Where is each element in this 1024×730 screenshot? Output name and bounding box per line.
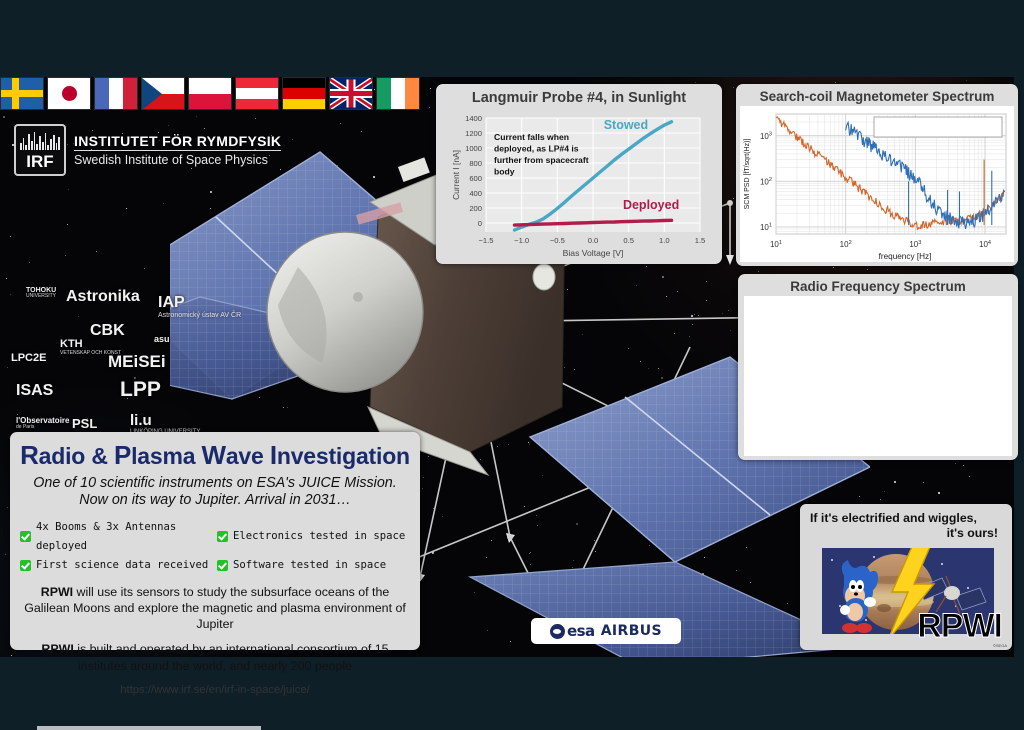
flag-ireland (376, 77, 420, 110)
title-capital: R (20, 440, 39, 470)
svg-text:body: body (494, 167, 515, 177)
logo-psl: PSL (72, 417, 97, 431)
badge-credit: ©SEGA (993, 643, 1007, 648)
svg-text:Stowed: Stowed (604, 118, 648, 132)
title-segment: nvestigation (277, 443, 410, 469)
logo-cbk: CBK (90, 323, 125, 340)
svg-text:Current I [nA]: Current I [nA] (451, 150, 461, 200)
flag-united-kingdom (329, 77, 373, 110)
svg-text:deployed, as LP#4 is: deployed, as LP#4 is (494, 144, 579, 154)
svg-text:103: 103 (760, 132, 772, 141)
check-icon (217, 531, 228, 542)
title-capital: P (114, 440, 131, 470)
langmuir-probe-title: Langmuir Probe #4, in Sunlight (436, 84, 722, 106)
rpwi-info-panel: Radio & Plasma Wave Investigation One of… (10, 432, 420, 650)
badge-slogan-line1: If it's electrified and wiggles, (810, 511, 1004, 525)
check-icon (20, 531, 31, 542)
logo-isas: ISAS (16, 383, 53, 400)
esa-wordmark: esa (567, 622, 595, 640)
paragraph-text: is built and operated by an internationa… (74, 642, 389, 672)
checklist-item: First science data received (20, 556, 217, 575)
rpwi-status-checklist: 4x Booms & 3x Antennas deployedElectroni… (10, 510, 420, 577)
svg-text:103: 103 (909, 240, 921, 249)
flag-austria (235, 77, 279, 110)
rpwi-bold: RPWI (41, 642, 73, 656)
title-segment: adio (39, 443, 92, 469)
checklist-item: 4x Booms & 3x Antennas deployed (20, 518, 217, 556)
radio-frequency-card: Radio Frequency Spectrum (738, 274, 1018, 460)
logo-isas-text: ISAS (16, 382, 53, 399)
rpwi-panel-title: Radio & Plasma Wave Investigation (10, 432, 420, 473)
logo-observatoire-de-paris: l'Observatoirede Paris (16, 417, 69, 431)
rpwi-subtitle: One of 10 scientific instruments on ESA'… (10, 473, 420, 510)
svg-text:400: 400 (469, 189, 482, 198)
title-capital: I (270, 440, 277, 470)
logo-meisei-text: MEiSEi (108, 352, 166, 371)
logo-observatoire-de-paris-subtext: de Paris (16, 425, 69, 430)
svg-text:200: 200 (469, 204, 482, 213)
logo-astronika-text: Astronika (66, 288, 140, 305)
irf-name-swedish: INSTITUTET FÖR RYMDFYSIK (74, 133, 281, 151)
search-coil-magnetometer-card: Search-coil Magnetometer Spectrum 101102… (736, 84, 1018, 266)
logo-lpc2e-text: LPC2E (11, 352, 46, 364)
flag-czech-republic (141, 77, 185, 110)
logo-meisei: MEiSEi (108, 353, 166, 371)
irf-logo: IRF INSTITUTET FÖR RYMDFYSIK Swedish Ins… (14, 124, 281, 176)
esa-logo: esa (550, 622, 595, 640)
logo-lpp-text: LPP (120, 378, 161, 401)
checklist-item: Electronics tested in space (217, 518, 414, 556)
logo-liu-text: li.u (130, 412, 152, 429)
flag-germany (282, 77, 326, 110)
svg-text:−0.5: −0.5 (550, 236, 565, 245)
svg-text:101: 101 (770, 240, 782, 249)
svg-text:102: 102 (760, 177, 772, 186)
rf-chart (744, 296, 1012, 456)
title-segment: ave (226, 443, 270, 469)
rpwi-paragraph-1: RPWI will use its sensors to study the s… (10, 577, 420, 632)
title-segment: lasma (131, 443, 201, 469)
svg-text:Deployed: Deployed (623, 198, 679, 212)
rpwi-subtitle-line1: One of 10 scientific instruments on ESA'… (18, 475, 412, 492)
irf-name-english: Swedish Institute of Space Physics (74, 153, 281, 167)
svg-text:−1.5: −1.5 (479, 236, 494, 245)
checklist-item: Software tested in space (217, 556, 414, 575)
logo-asu: asu (154, 335, 170, 344)
logo-lpp: LPP (120, 379, 161, 401)
svg-text:104: 104 (979, 240, 991, 249)
checklist-label: Electronics tested in space (233, 527, 405, 546)
check-icon (217, 560, 228, 571)
svg-text:SCM PSD [fT/sqrt(Hz)]: SCM PSD [fT/sqrt(Hz)] (744, 139, 751, 210)
logo-iap-subtext: Astronomický ústav AV ČR (158, 312, 241, 319)
checklist-label: First science data received (36, 556, 208, 575)
rf-title: Radio Frequency Spectrum (738, 274, 1018, 294)
logo-psl-text: PSL (72, 416, 97, 431)
logo-lpc2e: LPC2E (11, 353, 46, 365)
logo-tohoku-subtext: UNIVERSITY (26, 294, 56, 299)
svg-text:101: 101 (760, 223, 772, 232)
airbus-wordmark: AIRBUS (601, 623, 662, 639)
title-segment: & (91, 443, 114, 469)
svg-text:frequency [Hz]: frequency [Hz] (879, 252, 932, 261)
partner-country-flags (0, 77, 440, 115)
rpwi-url[interactable]: https://www.irf.se/en/irf-in-space/juice… (10, 674, 420, 696)
scm-title: Search-coil Magnetometer Spectrum (736, 84, 1018, 104)
esa-airbus-logo: esa AIRBUS (531, 618, 681, 644)
rpwi-sonic-badge: If it's electrified and wiggles, it's ou… (800, 504, 1012, 650)
svg-text:600: 600 (469, 174, 482, 183)
logo-cbk-text: CBK (90, 322, 125, 339)
svg-text:102: 102 (840, 240, 852, 249)
logo-astronika: Astronika (66, 289, 140, 306)
rpwi-paragraph-2: RPWI is built and operated by an interna… (10, 632, 420, 673)
langmuir-probe-card: Langmuir Probe #4, in Sunlight 020040060… (436, 84, 722, 264)
svg-text:1000: 1000 (465, 144, 482, 153)
langmuir-probe-chart: 0200400600800100012001400−1.5−1.0−0.50.0… (450, 110, 708, 258)
svg-text:Current falls when: Current falls when (494, 132, 569, 142)
screenshot-root: TOHOKUUNIVERSITYAstronikaIAPAstronomický… (0, 0, 1024, 730)
esa-globe-icon (550, 624, 565, 639)
badge-slogan-line2: it's ours! (810, 526, 1004, 540)
svg-text:0.5: 0.5 (623, 236, 634, 245)
bottom-scroll-bar[interactable] (37, 726, 261, 730)
svg-text:further from spacecraft: further from spacecraft (494, 155, 589, 165)
rpwi-subtitle-line2: Now on its way to Jupiter. Arrival in 20… (18, 492, 412, 509)
svg-text:1.5: 1.5 (695, 236, 706, 245)
title-capital: W (202, 440, 226, 470)
flag-poland (188, 77, 232, 110)
svg-text:1.0: 1.0 (659, 236, 670, 245)
paragraph-text: will use its sensors to study the subsur… (24, 585, 406, 631)
scm-chart: 101102103104101102103frequency [Hz]SCM P… (740, 106, 1014, 262)
logo-kth-text: KTH (60, 338, 83, 350)
badge-acronym: RPWI (917, 607, 1002, 646)
logo-tohoku: TOHOKUUNIVERSITY (26, 287, 56, 300)
flag-sweden (0, 77, 44, 110)
irf-waveform-icon: IRF (14, 124, 66, 176)
checklist-label: Software tested in space (233, 556, 386, 575)
svg-text:Bias Voltage [V]: Bias Voltage [V] (563, 248, 624, 258)
flag-japan (47, 77, 91, 110)
svg-text:−1.0: −1.0 (514, 236, 529, 245)
svg-text:1400: 1400 (465, 114, 482, 123)
logo-asu-text: asu (154, 334, 170, 344)
logo-iap-text: IAP (158, 294, 185, 311)
svg-text:800: 800 (469, 159, 482, 168)
rpwi-bold: RPWI (41, 585, 73, 599)
logo-iap: IAPAstronomický ústav AV ČR (158, 295, 241, 319)
badge-slogan: If it's electrified and wiggles, it's ou… (810, 511, 1004, 540)
checklist-label: 4x Booms & 3x Antennas deployed (36, 518, 217, 556)
irf-wordmark: INSTITUTET FÖR RYMDFYSIK Swedish Institu… (74, 133, 281, 167)
svg-text:0.0: 0.0 (588, 236, 599, 245)
flag-france (94, 77, 138, 110)
check-icon (20, 560, 31, 571)
svg-text:1200: 1200 (465, 129, 482, 138)
svg-text:0: 0 (478, 219, 482, 228)
irf-acronym: IRF (16, 152, 64, 172)
